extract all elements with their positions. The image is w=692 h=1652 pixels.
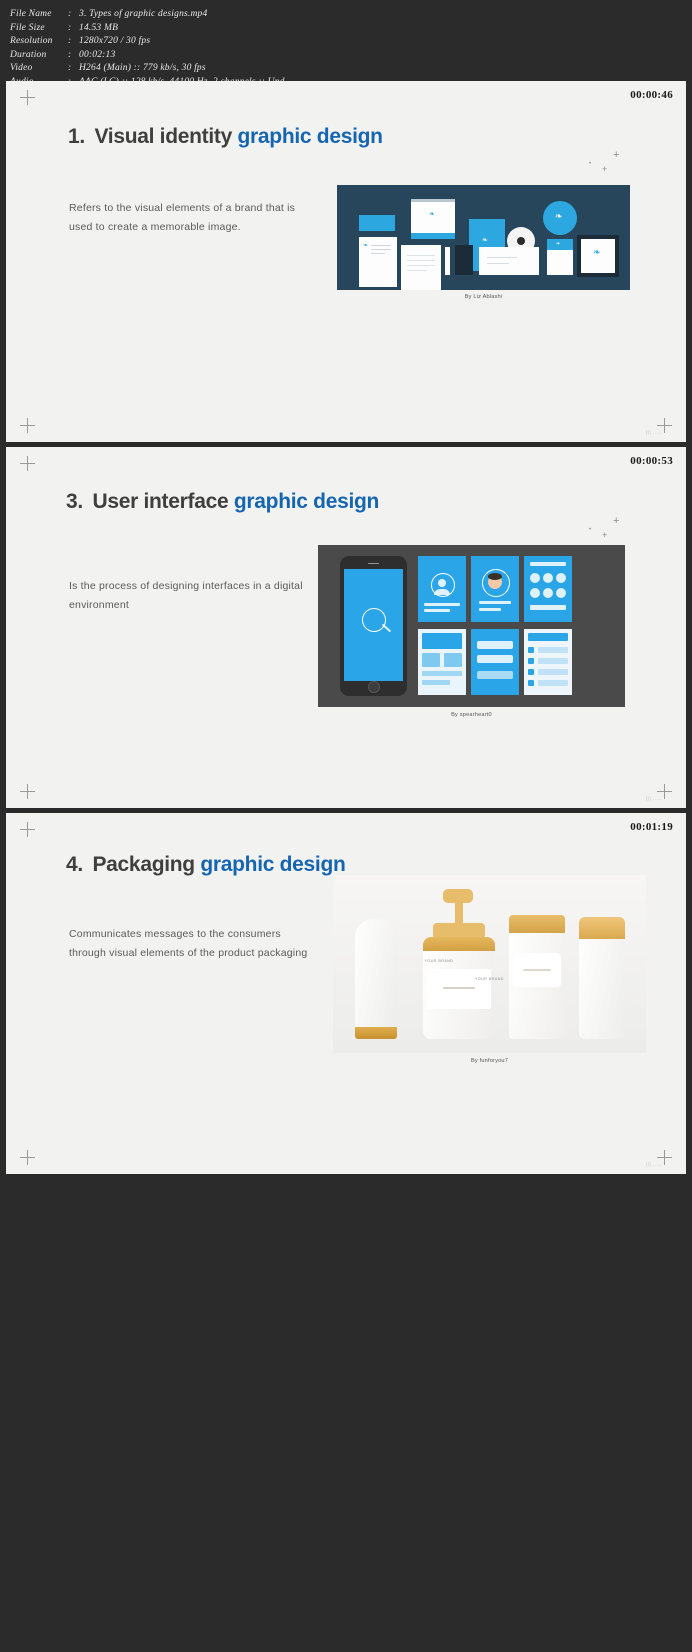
metadata-key: File Name	[10, 8, 68, 22]
video-frame-thumbnail[interactable]: 00:00:53 3. User interface graphic desig…	[6, 447, 686, 808]
crop-mark-icon	[20, 456, 35, 471]
package-brand-label: YOUR BRAND	[359, 959, 519, 963]
slide-number: 1.	[68, 125, 85, 148]
metadata-key: Duration	[10, 49, 68, 63]
sparkle-plus-icon: +	[602, 165, 607, 174]
slide-figure-packaging: YOUR BRAND YOUR BRAND By funforyou7	[333, 875, 646, 1053]
sparkle-plus-icon: +	[613, 517, 619, 526]
metadata-key: File Size	[10, 22, 68, 36]
slide-title-main: Visual identity	[94, 125, 232, 148]
metadata-value: 1280x720 / 30 fps	[79, 35, 692, 49]
sparkle-plus-icon: +	[602, 531, 607, 540]
metadata-colon: :	[68, 49, 79, 63]
figure-caption: By funforyou7	[333, 1058, 646, 1064]
sparkle-decoration-icon: • + +	[589, 151, 623, 177]
sparkle-dot-icon: •	[589, 526, 591, 535]
slide-title-accent: graphic design	[200, 853, 345, 876]
timestamp-label: 00:00:46	[630, 89, 673, 101]
metadata-colon: :	[68, 22, 79, 36]
slide-figure-user-interface: By spearheart0	[318, 545, 625, 707]
metadata-colon: :	[68, 35, 79, 49]
slide-title-main: Packaging	[92, 853, 194, 876]
slide-title-main: User interface	[92, 490, 228, 513]
slide-figure-visual-identity: ❧ ❧ ❧ ❧	[337, 185, 630, 290]
metadata-colon: :	[68, 8, 79, 22]
metadata-row: Resolution : 1280x720 / 30 fps	[10, 35, 692, 49]
metadata-key: Resolution	[10, 35, 68, 49]
video-frame-thumbnail[interactable]: 00:00:46 1. Visual identity graphic desi…	[6, 81, 686, 442]
crop-mark-icon	[20, 822, 35, 837]
metadata-value: H264 (Main) :: 779 kb/s, 30 fps	[79, 62, 692, 76]
metadata-row: File Name : 3. Types of graphic designs.…	[10, 8, 692, 22]
figure-caption: By spearheart0	[318, 712, 625, 718]
watermark-label: (i) .....	[646, 1162, 662, 1168]
metadata-row: File Size : 14.53 MB	[10, 22, 692, 36]
metadata-colon: :	[68, 62, 79, 76]
slide-title: 3. User interface graphic design	[66, 490, 379, 514]
slide-title-accent: graphic design	[234, 490, 379, 513]
video-thumbnail-grid: 00:00:46 1. Visual identity graphic desi…	[0, 81, 692, 1179]
sparkle-decoration-icon: • + +	[589, 517, 623, 543]
metadata-key: Video	[10, 62, 68, 76]
sparkle-plus-icon: +	[613, 151, 619, 160]
slide-body-text: Refers to the visual elements of a brand…	[69, 199, 309, 237]
timestamp-label: 00:01:19	[630, 821, 673, 833]
metadata-row: Video : H264 (Main) :: 779 kb/s, 30 fps	[10, 62, 692, 76]
crop-mark-icon	[20, 1150, 35, 1165]
crop-mark-icon	[20, 418, 35, 433]
crop-mark-icon	[20, 90, 35, 105]
watermark-label: (i) .....	[646, 796, 662, 802]
slide-number: 3.	[66, 490, 83, 513]
slide-body-text: Is the process of designing interfaces i…	[69, 577, 327, 615]
figure-caption: By Liz Ablashi	[337, 294, 630, 300]
file-metadata-panel: File Name : 3. Types of graphic designs.…	[0, 0, 692, 81]
slide-title: 1. Visual identity graphic design	[68, 125, 383, 149]
metadata-value: 14.53 MB	[79, 22, 692, 36]
video-frame-thumbnail[interactable]: 00:01:19 4. Packaging graphic design • +…	[6, 813, 686, 1174]
slide-title: 4. Packaging graphic design	[66, 853, 346, 877]
slide-title-accent: graphic design	[238, 125, 383, 148]
metadata-value: 00:02:13	[79, 49, 692, 63]
watermark-label: (i) .....	[646, 430, 662, 436]
timestamp-label: 00:00:53	[630, 455, 673, 467]
slide-number: 4.	[66, 853, 83, 876]
crop-mark-icon	[20, 784, 35, 799]
sparkle-dot-icon: •	[589, 160, 591, 169]
metadata-row: Duration : 00:02:13	[10, 49, 692, 63]
slide-body-text: Communicates messages to the consumers t…	[69, 925, 309, 963]
metadata-value: 3. Types of graphic designs.mp4	[79, 8, 692, 22]
